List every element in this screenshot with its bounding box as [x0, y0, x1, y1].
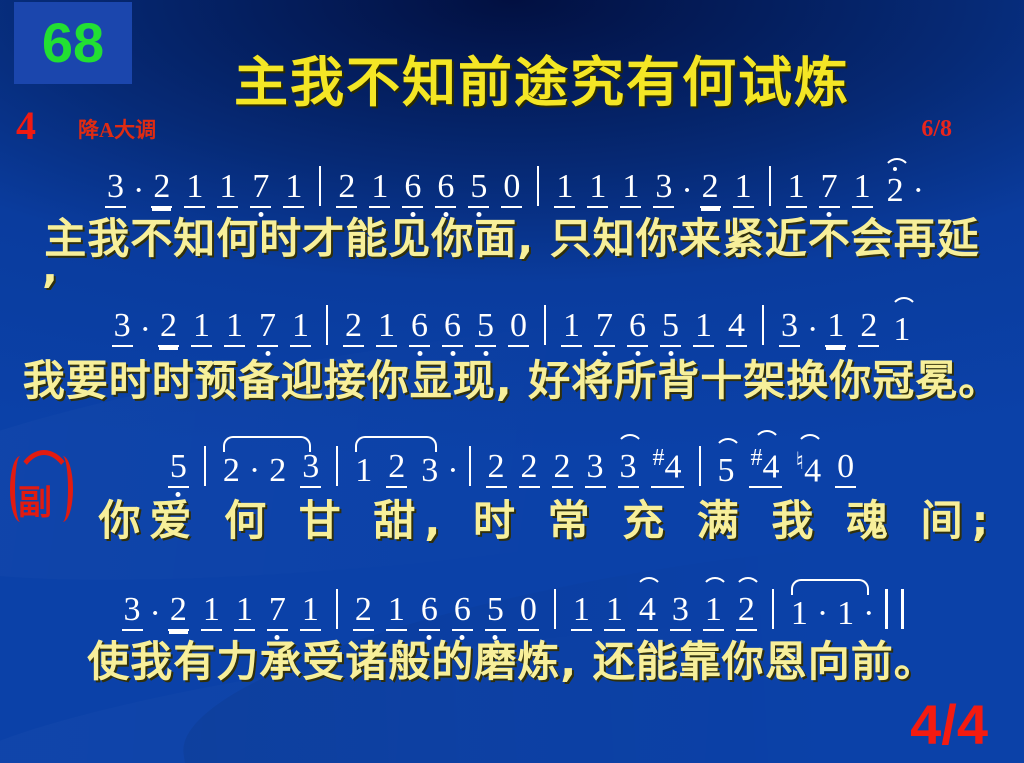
barline: [769, 166, 771, 206]
note: 1: [283, 170, 304, 208]
note: 1: [300, 593, 321, 631]
note: 5: [716, 454, 737, 488]
time-signature-top: 6/8: [921, 116, 952, 143]
note: 6: [452, 593, 473, 631]
slur: [223, 436, 311, 452]
page-title: 主我不知前途究有何试炼: [0, 38, 1024, 117]
note: 1: [733, 170, 754, 208]
final-barline: [885, 589, 904, 629]
lyrics-line-1-wrap: ,: [42, 243, 58, 292]
duration-dot: ·: [140, 313, 151, 347]
barline: [319, 166, 321, 206]
rest: 0: [508, 309, 529, 347]
barline: [336, 589, 338, 629]
note: 1: [571, 593, 592, 631]
slur: [791, 579, 869, 595]
barline: [537, 166, 539, 206]
lyrics-line-3: 你爱 何 甘 甜, 时 常 充 满 我 魂 间;: [0, 487, 1024, 548]
note: 1: [852, 170, 873, 208]
note: 4: [726, 309, 747, 347]
key-signature: 降A大调: [78, 114, 156, 144]
note: 2: [552, 450, 573, 488]
note: 2: [221, 454, 242, 488]
duration-dot: ·: [447, 454, 458, 488]
note: 3: [779, 309, 800, 347]
note: 2: [486, 450, 507, 488]
note: 2: [158, 309, 179, 347]
barline: [554, 589, 556, 629]
lyrics-line-2: 我要时时预备迎接你显现, 好将所背十架换你冠冕。: [0, 347, 1024, 408]
duration-dot: ·: [150, 597, 161, 631]
note: 2: [353, 593, 374, 631]
note: 7: [250, 170, 271, 208]
note: 2: [519, 450, 540, 488]
note: 5: [475, 309, 496, 347]
note: 2: [168, 593, 189, 631]
note: 1: [369, 170, 390, 208]
note: 6: [419, 593, 440, 631]
beat-number: 4: [16, 106, 36, 146]
notation-line-2: 3·2 1 1 7 1 2 1 6 6 5 0 1 7 6 5 1 4 3·1 …: [0, 291, 1024, 347]
note: 7: [594, 309, 615, 347]
sharp-icon: #: [751, 445, 763, 471]
note: 1: [703, 593, 724, 631]
natural-icon: ♮: [796, 449, 805, 475]
note: 1: [786, 170, 807, 208]
note: 1: [191, 309, 212, 347]
note: 2: [386, 450, 407, 488]
barline: [699, 446, 701, 486]
barline: [772, 589, 774, 629]
note: 5: [168, 450, 189, 488]
note: 1: [386, 593, 407, 631]
note: 5: [485, 593, 506, 631]
duration-dot: ·: [807, 313, 818, 347]
note: 1: [693, 309, 714, 347]
note: 3: [618, 450, 639, 488]
note: 7: [819, 170, 840, 208]
time-signature-bottom: 4/4: [910, 697, 988, 753]
barline: [544, 305, 546, 345]
note: 1: [184, 170, 205, 208]
note: 1: [835, 597, 856, 631]
note: 3: [112, 309, 133, 347]
note: 3: [300, 450, 321, 488]
barline: [326, 305, 328, 345]
note: 3: [105, 170, 126, 208]
note: 2: [885, 174, 906, 208]
note-sharp: #4: [651, 446, 684, 488]
note: 5: [468, 170, 489, 208]
duration-dot: ·: [133, 174, 144, 208]
notation-line-4: 3·2 1 1 7 1 2 1 6 6 5 0 1 1 4 3 1 2 1·1·: [0, 575, 1024, 631]
slide-canvas: 68 主我不知前途究有何试炼 4 降A大调 6/8 4/4 3·2 1 1 7 …: [0, 0, 1024, 763]
note: 2: [858, 309, 879, 347]
note: 1: [825, 309, 846, 347]
note: 6: [402, 170, 423, 208]
note: 2: [267, 454, 288, 488]
note-natural: ♮4: [794, 450, 824, 488]
note: 6: [442, 309, 463, 347]
rest: 0: [518, 593, 539, 631]
note: 1: [587, 170, 608, 208]
note: 1: [620, 170, 641, 208]
lyrics-line-4: 使我有力承受诸般的磨炼, 还能靠你恩向前。: [0, 628, 1024, 689]
sharp-icon: #: [653, 445, 665, 471]
duration-dot: ·: [681, 174, 692, 208]
note: 5: [660, 309, 681, 347]
note: 3: [653, 170, 674, 208]
lyrics-line-1: 主我不知何时才能见你面, 只知你来紧近不会再延: [0, 205, 1024, 266]
barline: [204, 446, 206, 486]
note: 6: [435, 170, 456, 208]
note: 4: [637, 593, 658, 631]
duration-dot: ·: [913, 174, 924, 208]
note: 3: [585, 450, 606, 488]
note: 1: [604, 593, 625, 631]
note: 6: [409, 309, 430, 347]
barline: [336, 446, 338, 486]
note: 1: [561, 309, 582, 347]
note: 7: [267, 593, 288, 631]
note: 2: [343, 309, 364, 347]
note: 6: [627, 309, 648, 347]
note: 1: [554, 170, 575, 208]
duration-dot: ·: [817, 597, 828, 631]
barline: [469, 446, 471, 486]
note: 2: [700, 170, 721, 208]
note: 2: [736, 593, 757, 631]
note: 1: [789, 597, 810, 631]
rest: 0: [501, 170, 522, 208]
note: 1: [201, 593, 222, 631]
note: 1: [234, 593, 255, 631]
note: 7: [257, 309, 278, 347]
note: 2: [336, 170, 357, 208]
duration-dot: ·: [863, 597, 874, 631]
note: 3: [122, 593, 143, 631]
rest: 0: [835, 450, 856, 488]
note: 2: [151, 170, 172, 208]
note: 3: [670, 593, 691, 631]
duration-dot: ·: [249, 454, 260, 488]
note: 1: [353, 454, 374, 488]
notation-line-3: 5 2·2 3 1 2 3· 2 2 2 3 3 #4 5 #4 ♮4 0: [0, 432, 1024, 488]
note: 1: [891, 313, 912, 347]
note: 1: [376, 309, 397, 347]
note: 1: [224, 309, 245, 347]
note: 3: [419, 454, 440, 488]
note: 1: [290, 309, 311, 347]
note: 1: [217, 170, 238, 208]
notation-line-1: 3·2 1 1 7 1 2 1 6 6 5 0 1 1 1 3·2 1 1 7 …: [0, 152, 1024, 208]
note-sharp: #4: [749, 446, 782, 488]
barline: [762, 305, 764, 345]
